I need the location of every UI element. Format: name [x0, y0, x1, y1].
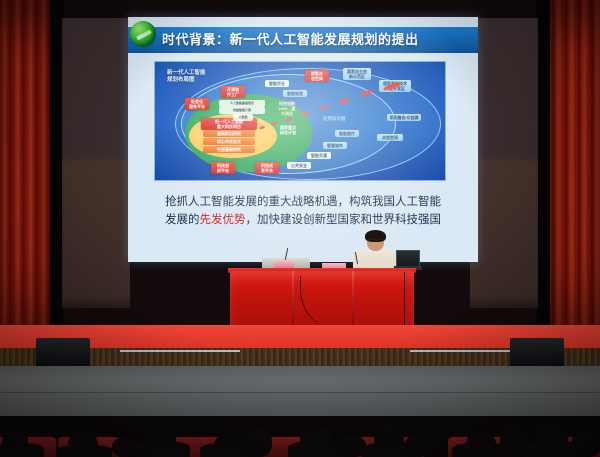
audience-shoulders — [0, 443, 44, 457]
audience-head — [572, 427, 600, 457]
diagram-caption: 新一代人工智能 规划布局图 — [167, 70, 206, 84]
eyeglasses-icon — [367, 239, 384, 243]
wall-panel-left — [62, 18, 130, 308]
diagram-faint-label: 应用技术链 — [323, 116, 346, 122]
audience-shoulders — [288, 441, 348, 457]
diagram-red-tag-4: 群智众 创空间 — [305, 70, 329, 82]
slide-body-highlight: 先发优势 — [200, 214, 246, 226]
diagram-blue-tag-2: 智能医疗 — [335, 130, 359, 137]
laptop-screen — [396, 250, 420, 267]
diagram-red-tag-3: 科技成 果平台 — [255, 162, 279, 174]
curtain-shadow-left — [50, 0, 64, 348]
ai-plan-diagram: 新一代人工智能 规划布局图 新一代人工智能 重大科技项目 基础前沿研究 核心共性… — [154, 61, 446, 181]
diagram-blue-tag-0: 智能农业 — [265, 80, 289, 87]
diagram-outer-tag-0: 国家自主创 新示范区 — [343, 68, 371, 80]
projection-screen: 时代背景：新一代人工智能发展规划的提出 新一代人工智能 规划布局图 新一代人工智… — [128, 17, 478, 262]
slide-body-line-2-post: ，加快建设创新型国家和世界科技强国 — [246, 214, 442, 226]
diagram-red-tag-1: 开源软 件工厂 — [221, 86, 245, 98]
diagram-gray-tag-2: 类脑智能计算 — [219, 107, 265, 114]
edge-light-strip-left — [120, 350, 240, 352]
stage-curtain-right — [550, 0, 600, 348]
audience-shoulders — [56, 445, 112, 457]
diagram-green-zone-sub: 国家重点 研发计划 — [273, 124, 303, 136]
stage-curtain-left — [0, 0, 50, 348]
diagram-outer-tag-2: 军民融合/众创源 — [387, 114, 421, 121]
diagram-red-tag-2: 科技创 新平台 — [211, 162, 235, 174]
diagram-blue-tag-1: 智能制造 — [283, 90, 307, 97]
audience-shoulders — [136, 441, 190, 457]
diagram-blue-tag-5: 公共安全 — [287, 162, 311, 169]
green-sphere-logo-icon — [130, 21, 156, 47]
diagram-green-zone-label: 科技创新 2030—重 大项目 — [271, 100, 303, 117]
slide-body-line-1: 抢抓人工智能发展的重大战略机遇，构筑我国人工智能 — [142, 193, 464, 211]
audience-head — [112, 437, 136, 457]
diagram-center-item-1: 核心共性技术 — [203, 138, 255, 145]
slide-body-line-2: 发展的先发优势，加快建设创新型国家和世界科技强国 — [142, 211, 464, 229]
diagram-blue-tag-3: 智慧城市 — [323, 142, 347, 149]
diagram-outer-tag-3: 众创空间 — [377, 134, 403, 141]
diagram-blue-tag-4: 智能交通 — [307, 152, 331, 159]
diagram-center-item-0: 基础前沿研究 — [203, 130, 255, 137]
audience-head — [404, 435, 430, 457]
table-drape-fold-1 — [292, 271, 294, 325]
slide-title: 时代背景：新一代人工智能发展规划的提出 — [162, 28, 472, 52]
curtain-shadow-right — [536, 0, 550, 348]
diagram-center-item-2: 先进基础研究 — [203, 146, 255, 153]
diagram-gray-tag-0: 大数据 — [233, 114, 253, 121]
slide-body-line-2-pre: 发展的 — [165, 214, 200, 226]
diagram-red-tag-0: 社会化 服务平台 — [185, 98, 209, 110]
apron-seam-line — [0, 392, 600, 393]
table-drape-fold-2 — [352, 271, 354, 325]
diagram-gray-tag-1: 人工智能基础理论 — [219, 100, 265, 107]
auditorium-scene: 时代背景：新一代人工智能发展规划的提出 新一代人工智能 规划布局图 新一代人工智… — [0, 0, 600, 457]
audience-silhouettes — [0, 398, 600, 457]
audience-head — [244, 427, 272, 457]
cable-right — [404, 272, 405, 328]
wall-panel-right — [470, 18, 538, 308]
slide-body-text: 抢抓人工智能发展的重大战略机遇，构筑我国人工智能 发展的先发优势，加快建设创新型… — [142, 193, 464, 229]
